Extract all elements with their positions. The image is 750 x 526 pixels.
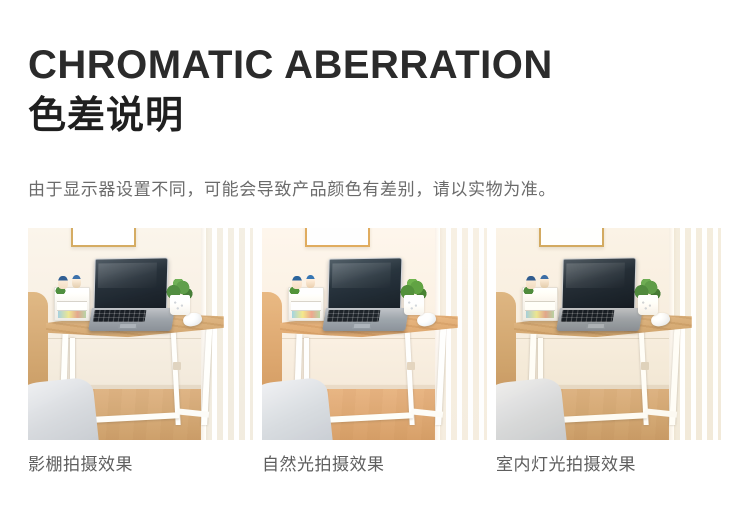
laptop-screen xyxy=(94,257,169,313)
figurine xyxy=(58,276,67,290)
page-title-english: CHROMATIC ABERRATION xyxy=(28,42,728,88)
laptop-screen xyxy=(328,257,403,313)
wooden-headboard xyxy=(262,292,282,385)
flower-pot xyxy=(404,295,424,315)
flower-pot xyxy=(638,295,658,315)
laptop-keyboard xyxy=(561,310,615,322)
laptop-keyboard xyxy=(327,310,381,322)
wall-picture-frame xyxy=(305,228,370,247)
laptop-trackpad xyxy=(352,323,371,329)
page-title-chinese: 色差说明 xyxy=(28,92,728,140)
laptop-base xyxy=(322,308,409,331)
wall-picture-frame xyxy=(71,228,136,247)
laptop-trackpad xyxy=(586,323,605,329)
product-photo-indoor-light[interactable] xyxy=(496,228,721,440)
wall-picture-frame xyxy=(539,228,604,247)
gallery-item[interactable]: 室内灯光拍摄效果 xyxy=(496,228,721,476)
gallery-item[interactable]: 影棚拍摄效果 xyxy=(28,228,253,476)
bed-cushion xyxy=(28,376,99,440)
wooden-headboard xyxy=(496,292,516,385)
disclaimer-text: 由于显示器设置不同，可能会导致产品颜色有差别，请以实物为准。 xyxy=(28,177,556,203)
bed-cushion xyxy=(496,376,567,440)
chromatic-aberration-page: CHROMATIC ABERRATION 色差说明 由于显示器设置不同，可能会导… xyxy=(0,0,750,526)
room-scene xyxy=(496,228,721,440)
room-scene xyxy=(28,228,253,440)
folding-hinge xyxy=(173,362,181,370)
figurine xyxy=(526,276,535,290)
room-scene xyxy=(262,228,487,440)
flower-pot xyxy=(170,295,190,315)
laptop-screen xyxy=(562,257,637,313)
bed-cushion xyxy=(262,376,333,440)
folding-hinge xyxy=(407,362,415,370)
figurine xyxy=(72,275,81,289)
laptop-base xyxy=(556,308,643,331)
laptop-keyboard xyxy=(93,310,147,322)
figurine xyxy=(306,275,315,289)
photo-caption: 影棚拍摄效果 xyxy=(28,454,253,476)
product-photo-natural-light[interactable] xyxy=(262,228,487,440)
wooden-headboard xyxy=(28,292,48,385)
photo-caption: 室内灯光拍摄效果 xyxy=(496,454,721,476)
gallery-item[interactable]: 自然光拍摄效果 xyxy=(262,228,487,476)
heading-block: CHROMATIC ABERRATION 色差说明 xyxy=(28,42,728,140)
photo-caption: 自然光拍摄效果 xyxy=(262,454,487,476)
laptop-base xyxy=(88,308,175,331)
product-photo-studio[interactable] xyxy=(28,228,253,440)
folding-hinge xyxy=(641,362,649,370)
photo-gallery: 影棚拍摄效果 xyxy=(28,228,722,476)
figurine xyxy=(540,275,549,289)
figurine xyxy=(292,276,301,290)
laptop-trackpad xyxy=(118,323,137,329)
